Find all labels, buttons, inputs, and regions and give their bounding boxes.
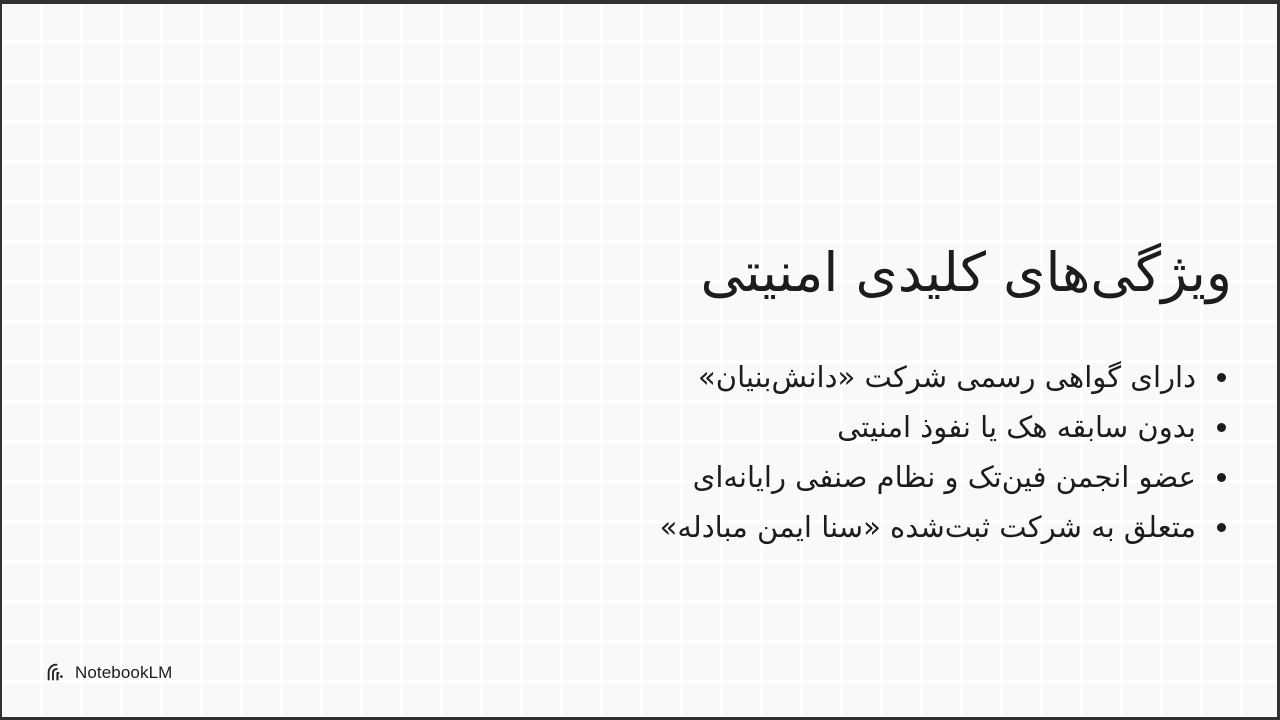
bullet-list: دارای گواهی رسمی شرکت «دانش‌بنیان» بدون … — [48, 352, 1232, 552]
list-item-label: عضو انجمن فین‌تک و نظام صنفی رایانه‌ای — [693, 460, 1196, 494]
list-item-label: دارای گواهی رسمی شرکت «دانش‌بنیان» — [698, 360, 1196, 394]
slide-frame-top — [0, 0, 1280, 4]
slide-title: ویژگی‌های کلیدی امنیتی — [48, 241, 1232, 305]
bullet-point-icon — [1217, 423, 1226, 432]
notebooklm-arc-icon — [46, 662, 67, 683]
list-item: عضو انجمن فین‌تک و نظام صنفی رایانه‌ای — [48, 452, 1232, 502]
bullet-point-icon — [1217, 523, 1226, 532]
list-item: متعلق به شرکت ثبت‌شده «سنا ایمن مبادله» — [48, 502, 1232, 552]
slide-frame-left — [0, 0, 2, 720]
notebooklm-wordmark: NotebookLM — [75, 664, 172, 681]
list-item-label: بدون سابقه هک یا نفوذ امنیتی — [837, 410, 1196, 444]
slide-content: ویژگی‌های کلیدی امنیتی دارای گواهی رسمی … — [0, 0, 1280, 720]
list-item-label: متعلق به شرکت ثبت‌شده «سنا ایمن مبادله» — [660, 510, 1196, 544]
bullet-point-icon — [1217, 373, 1226, 382]
presentation-slide: ویژگی‌های کلیدی امنیتی دارای گواهی رسمی … — [0, 0, 1280, 720]
list-item: دارای گواهی رسمی شرکت «دانش‌بنیان» — [48, 352, 1232, 402]
list-item: بدون سابقه هک یا نفوذ امنیتی — [48, 402, 1232, 452]
notebooklm-branding: NotebookLM — [46, 662, 172, 683]
bullet-point-icon — [1217, 473, 1226, 482]
